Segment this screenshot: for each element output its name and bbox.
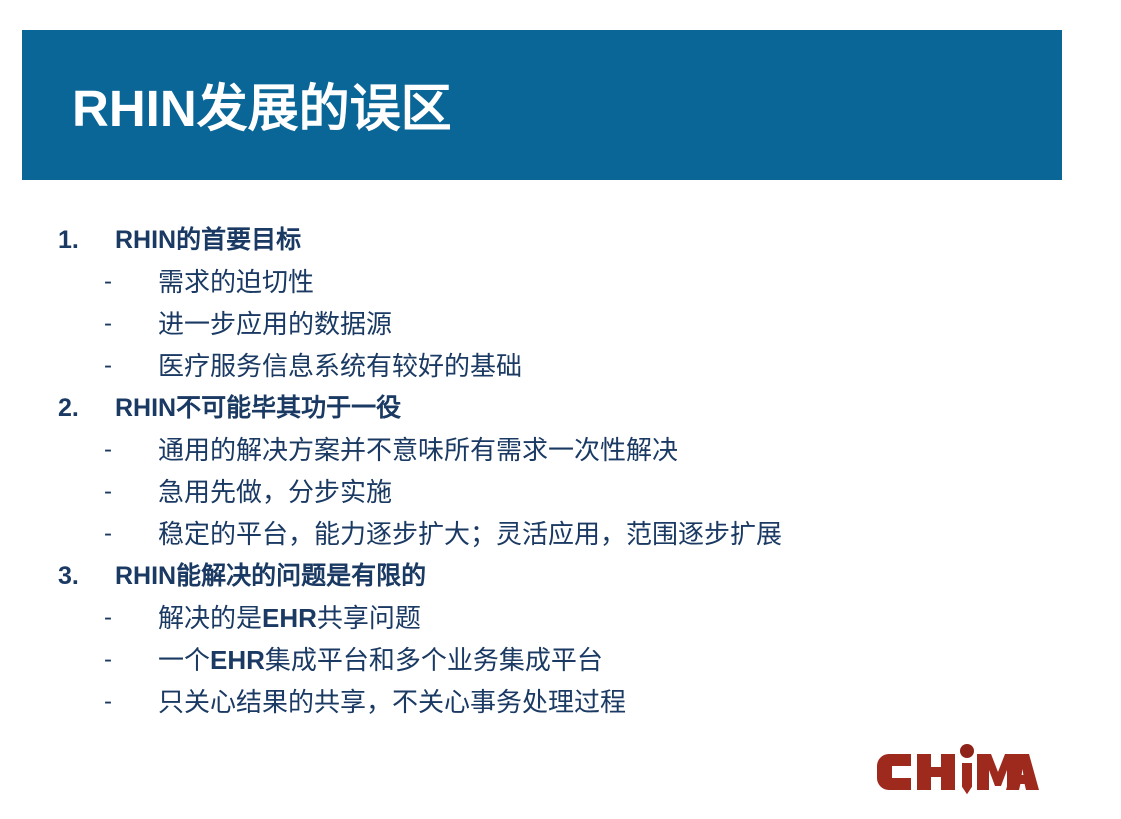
list-number-2: 2. bbox=[58, 387, 98, 429]
title-banner: RHIN发展的误区 bbox=[22, 30, 1062, 180]
chima-logo bbox=[877, 744, 1039, 800]
sub-item-1-2: - 进一步应用的数据源 bbox=[58, 303, 1068, 345]
dash-bullet-icon: - bbox=[104, 429, 112, 471]
numbered-item-3: 3. RHIN能解决的问题是有限的 bbox=[58, 555, 1068, 597]
sub-item-3-3: - 只关心结果的共享，不关心事务处理过程 bbox=[58, 681, 1068, 723]
dash-bullet-icon: - bbox=[104, 345, 112, 387]
numbered-item-1: 1. RHIN的首要目标 bbox=[58, 219, 1068, 261]
dash-bullet-icon: - bbox=[104, 303, 112, 345]
body-content: 1. RHIN的首要目标 - 需求的迫切性 - 进一步应用的数据源 - 医疗服务… bbox=[58, 219, 1068, 723]
chima-logo-icon bbox=[877, 744, 1039, 800]
dash-bullet-icon: - bbox=[104, 597, 112, 639]
numbered-item-2: 2. RHIN不可能毕其功于一役 bbox=[58, 387, 1068, 429]
sub-item-label: 只关心结果的共享，不关心事务处理过程 bbox=[158, 681, 626, 723]
sub-item-label: 解决的是EHR共享问题 bbox=[158, 597, 421, 639]
sub-item-label: 稳定的平台，能力逐步扩大；灵活应用，范围逐步扩展 bbox=[158, 513, 782, 555]
dash-bullet-icon: - bbox=[104, 471, 112, 513]
sub-item-2-3: - 稳定的平台，能力逐步扩大；灵活应用，范围逐步扩展 bbox=[58, 513, 1068, 555]
list-number-1: 1. bbox=[58, 219, 98, 261]
sub-item-3-2: - 一个EHR集成平台和多个业务集成平台 bbox=[58, 639, 1068, 681]
slide-title: RHIN发展的误区 bbox=[72, 82, 452, 136]
dash-bullet-icon: - bbox=[104, 261, 112, 303]
list-label-3: RHIN能解决的问题是有限的 bbox=[115, 555, 426, 597]
sub-item-label: 进一步应用的数据源 bbox=[158, 303, 392, 345]
sub-item-3-1: - 解决的是EHR共享问题 bbox=[58, 597, 1068, 639]
dash-bullet-icon: - bbox=[104, 513, 112, 555]
sub-item-2-1: - 通用的解决方案并不意味所有需求一次性解决 bbox=[58, 429, 1068, 471]
dash-bullet-icon: - bbox=[104, 681, 112, 723]
sub-item-1-1: - 需求的迫切性 bbox=[58, 261, 1068, 303]
sub-item-label: 一个EHR集成平台和多个业务集成平台 bbox=[158, 639, 603, 681]
sub-item-label: 通用的解决方案并不意味所有需求一次性解决 bbox=[158, 429, 678, 471]
sub-item-label: 医疗服务信息系统有较好的基础 bbox=[158, 345, 522, 387]
slide-canvas: RHIN发展的误区 1. RHIN的首要目标 - 需求的迫切性 - 进一步应用的… bbox=[0, 0, 1121, 819]
sub-item-label: 急用先做，分步实施 bbox=[158, 471, 392, 513]
dash-bullet-icon: - bbox=[104, 639, 112, 681]
list-label-1: RHIN的首要目标 bbox=[115, 219, 301, 261]
list-number-3: 3. bbox=[58, 555, 98, 597]
list-label-2: RHIN不可能毕其功于一役 bbox=[115, 387, 401, 429]
sub-item-label: 需求的迫切性 bbox=[158, 261, 314, 303]
sub-item-1-3: - 医疗服务信息系统有较好的基础 bbox=[58, 345, 1068, 387]
sub-item-2-2: - 急用先做，分步实施 bbox=[58, 471, 1068, 513]
